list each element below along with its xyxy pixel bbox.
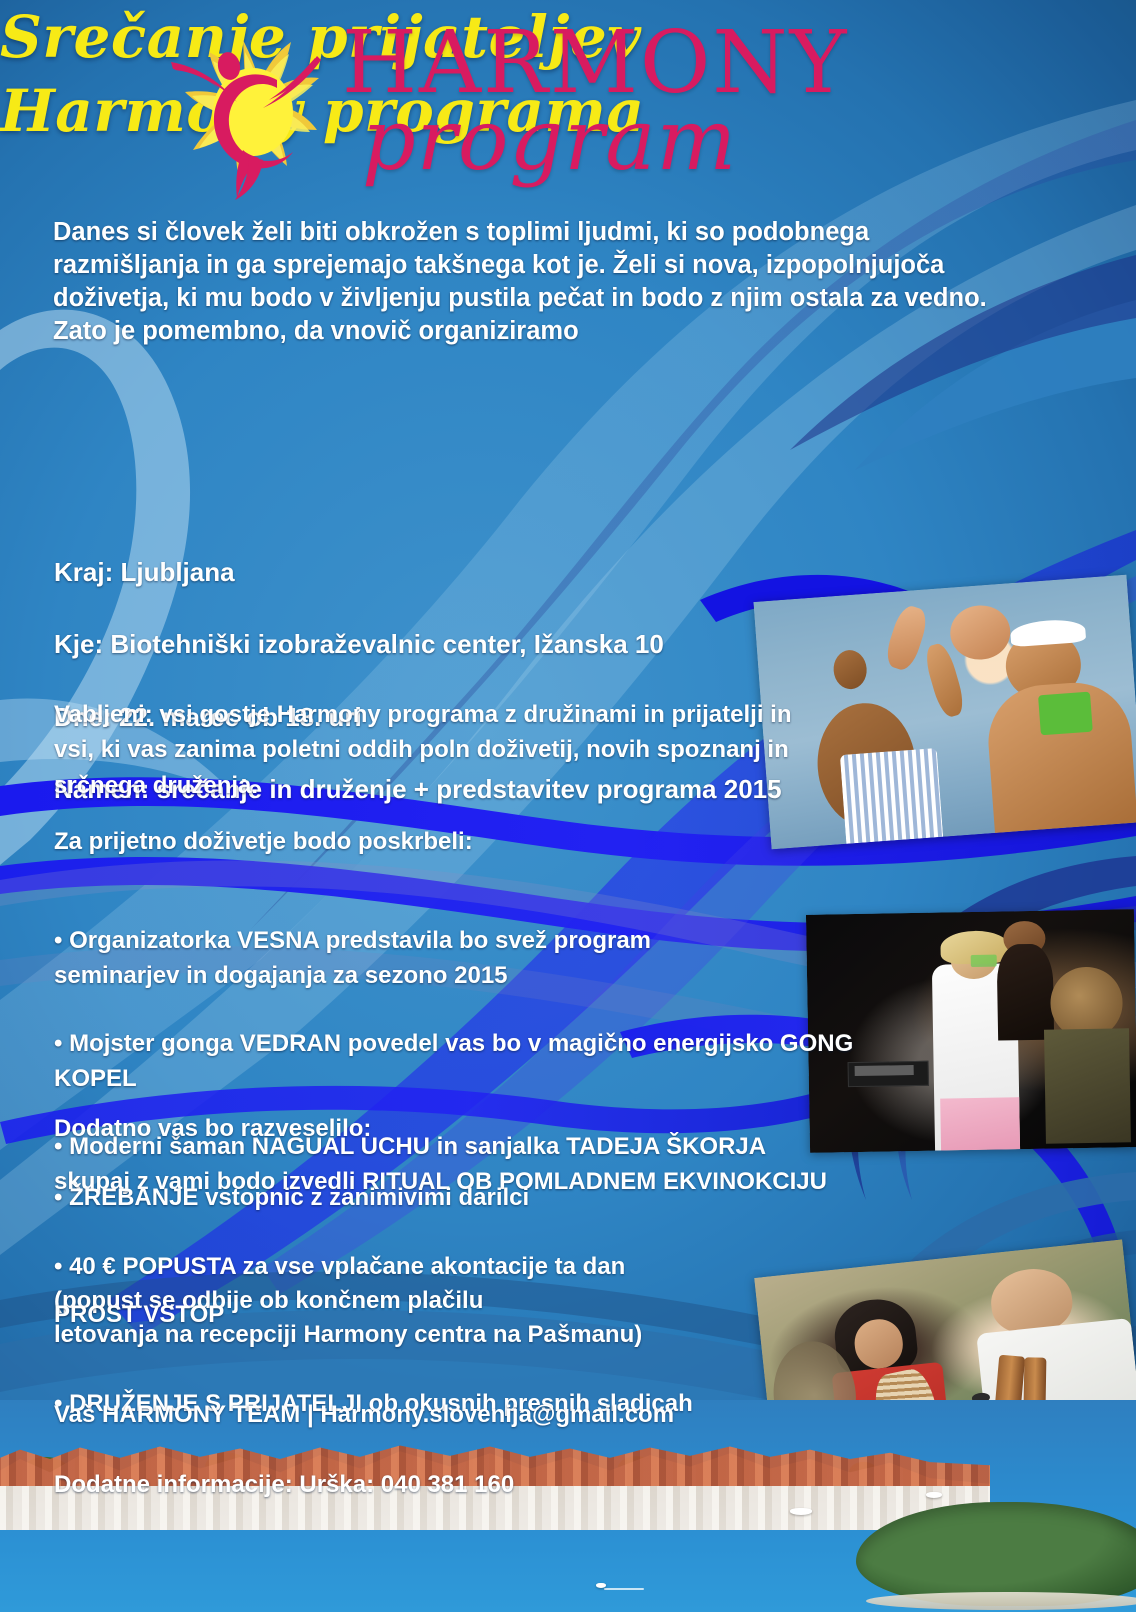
extras-intro-heading: Dodatno vas bo razveselilo: [54, 1112, 794, 1146]
contact-block: Vaš HARMONY TEAM | Harmony.slovenija@gma… [54, 1362, 754, 1537]
list-item: • Organizatorka VESNA predstavila bo sve… [54, 924, 914, 993]
detail-place: Kraj: Ljubljana [54, 554, 914, 590]
free-entry-label: PROST VSTOP [54, 1300, 224, 1331]
harmony-program-flyer: HARMONY program Danes si človek želi bit… [0, 0, 1136, 1612]
contact-phone: Dodatne informacije: Urška: 040 381 160 [54, 1467, 754, 1502]
list-item: • ŽREBANJE vstopnic z zanimivimi darilci [54, 1181, 794, 1215]
invitation-paragraph: Vabljeni: vsi gostje Harmony programa z … [54, 697, 814, 803]
contact-team-email: Vaš HARMONY TEAM | Harmony.slovenija@gma… [54, 1397, 754, 1432]
brand-name-program: program [362, 98, 737, 182]
program-intro-heading: Za prijetno doživetje bodo poskrbeli: [54, 827, 473, 858]
brand-logo: HARMONY program [165, 14, 905, 214]
brand-wordmark: HARMONY program [340, 14, 900, 214]
intro-paragraph: Danes si človek želi biti obkrožen s top… [53, 216, 988, 349]
sun-person-logo-icon [165, 22, 325, 202]
detail-venue: Kje: Biotehniški izobraževalnic center, … [54, 626, 914, 662]
